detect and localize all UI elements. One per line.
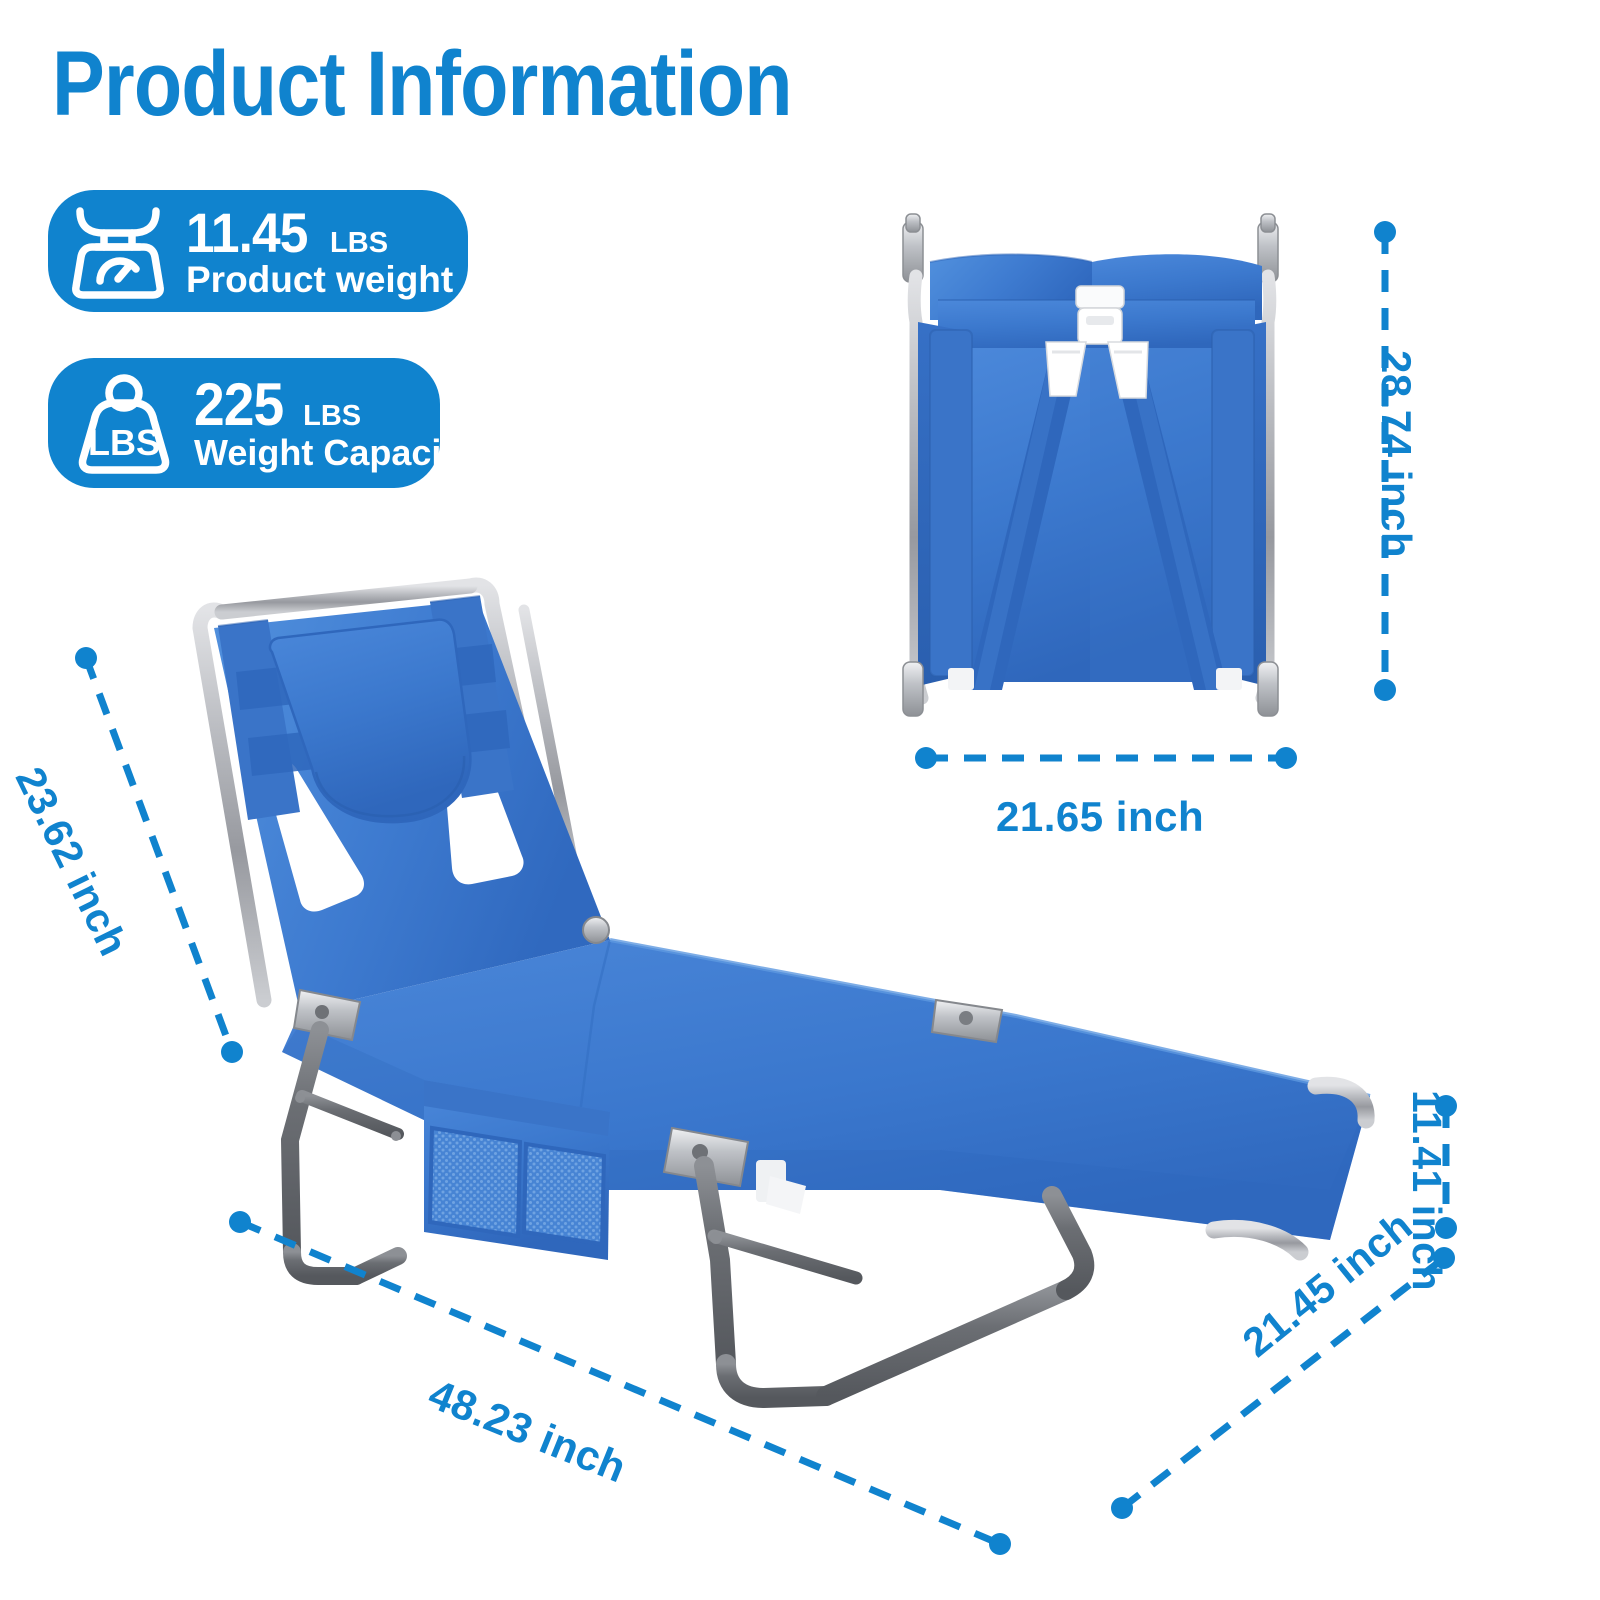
dimension-label-seat-width: 21.45 inch — [1234, 1202, 1422, 1366]
dimension-label-seat-height: 11.41 inch — [1403, 1090, 1450, 1291]
infographic-canvas: Product Information 11.45 LBS Product we… — [0, 0, 1600, 1600]
mesh-side-pocket — [424, 1080, 610, 1260]
open-chair-illustration — [200, 585, 1370, 1398]
folded-chair-hinges — [903, 214, 1278, 282]
hinge-upper — [294, 990, 360, 1040]
backrest-pivot — [583, 917, 609, 943]
badge-weight-capacity: LBS 225 LBS Weight Capacity — [48, 358, 440, 488]
page-title: Product Information — [52, 38, 792, 130]
folded-chair-illustration — [903, 214, 1278, 716]
strap-buckle-left-icon — [1046, 342, 1086, 396]
dimension-label-height-folded: 28.74 inch — [1372, 350, 1420, 558]
hinge-lower — [664, 1128, 786, 1202]
strap-buckle-right-icon — [1108, 342, 1148, 398]
headrest-pillow — [270, 620, 470, 822]
center-buckle-icon — [1076, 286, 1124, 344]
kitchen-scale-icon — [66, 199, 170, 304]
dimension-label-overall-length: 48.23 inch — [422, 1370, 633, 1492]
product-weight-value: 11.45 — [186, 205, 307, 261]
weight-capacity-label: Weight Capacity — [194, 432, 473, 473]
dimension-line-backrest-height — [86, 658, 232, 1052]
weight-block-icon-label: LBS — [88, 422, 160, 463]
seat-adjust-fitting — [932, 1000, 1002, 1042]
weight-capacity-unit: LBS — [303, 402, 361, 431]
dimension-line-overall-length — [240, 1222, 1000, 1544]
product-weight-label: Product weight — [186, 259, 453, 300]
badge-product-weight-text: 11.45 LBS Product weight — [186, 205, 453, 298]
product-weight-unit: LBS — [330, 229, 388, 258]
weight-block-icon: LBS — [70, 367, 178, 480]
badge-weight-capacity-text: 225 LBS Weight Capacity — [194, 375, 473, 471]
backpack-straps — [968, 356, 1228, 690]
weight-capacity-value: 225 — [194, 375, 283, 435]
badge-product-weight: 11.45 LBS Product weight — [48, 190, 468, 312]
dimension-label-backrest-height: 23.62 inch — [6, 760, 137, 963]
dimension-label-width-folded: 21.65 inch — [996, 793, 1204, 841]
